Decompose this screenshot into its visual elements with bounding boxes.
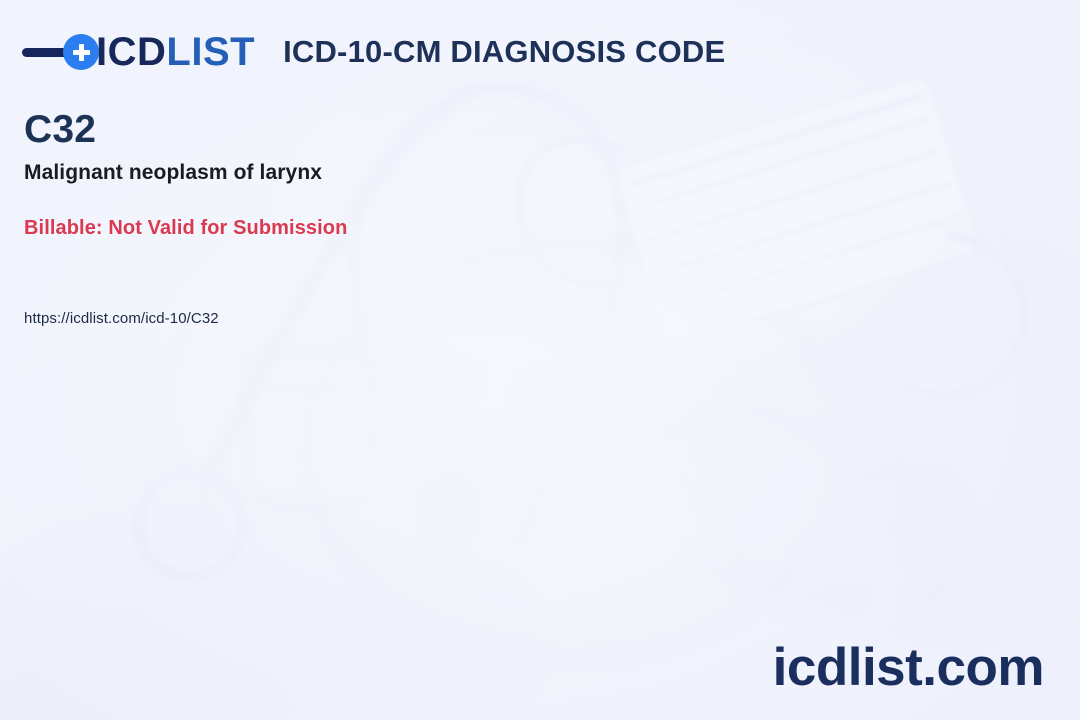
plus-circle-icon: [63, 34, 99, 70]
page-header: ICDLIST ICD-10-CM DIAGNOSIS CODE: [22, 26, 725, 78]
footer-brand[interactable]: icdlist.com: [773, 641, 1044, 694]
billable-status-badge: Billable: Not Valid for Submission: [24, 217, 664, 240]
icdlist-logo[interactable]: ICDLIST: [22, 26, 255, 78]
logo-text-icd: ICD: [96, 30, 166, 74]
logo-text-list: LIST: [166, 30, 255, 74]
diagnosis-code: C32: [24, 110, 664, 151]
background-medical-photo: [0, 0, 1080, 720]
diagnosis-code-card: ICDLIST ICD-10-CM DIAGNOSIS CODE C32 Mal…: [0, 0, 1080, 720]
diagnosis-details: C32 Malignant neoplasm of larynx Billabl…: [24, 110, 664, 327]
page-title: ICD-10-CM DIAGNOSIS CODE: [283, 34, 725, 70]
source-url[interactable]: https://icdlist.com/icd-10/C32: [24, 310, 664, 327]
diagnosis-description: Malignant neoplasm of larynx: [24, 161, 664, 185]
